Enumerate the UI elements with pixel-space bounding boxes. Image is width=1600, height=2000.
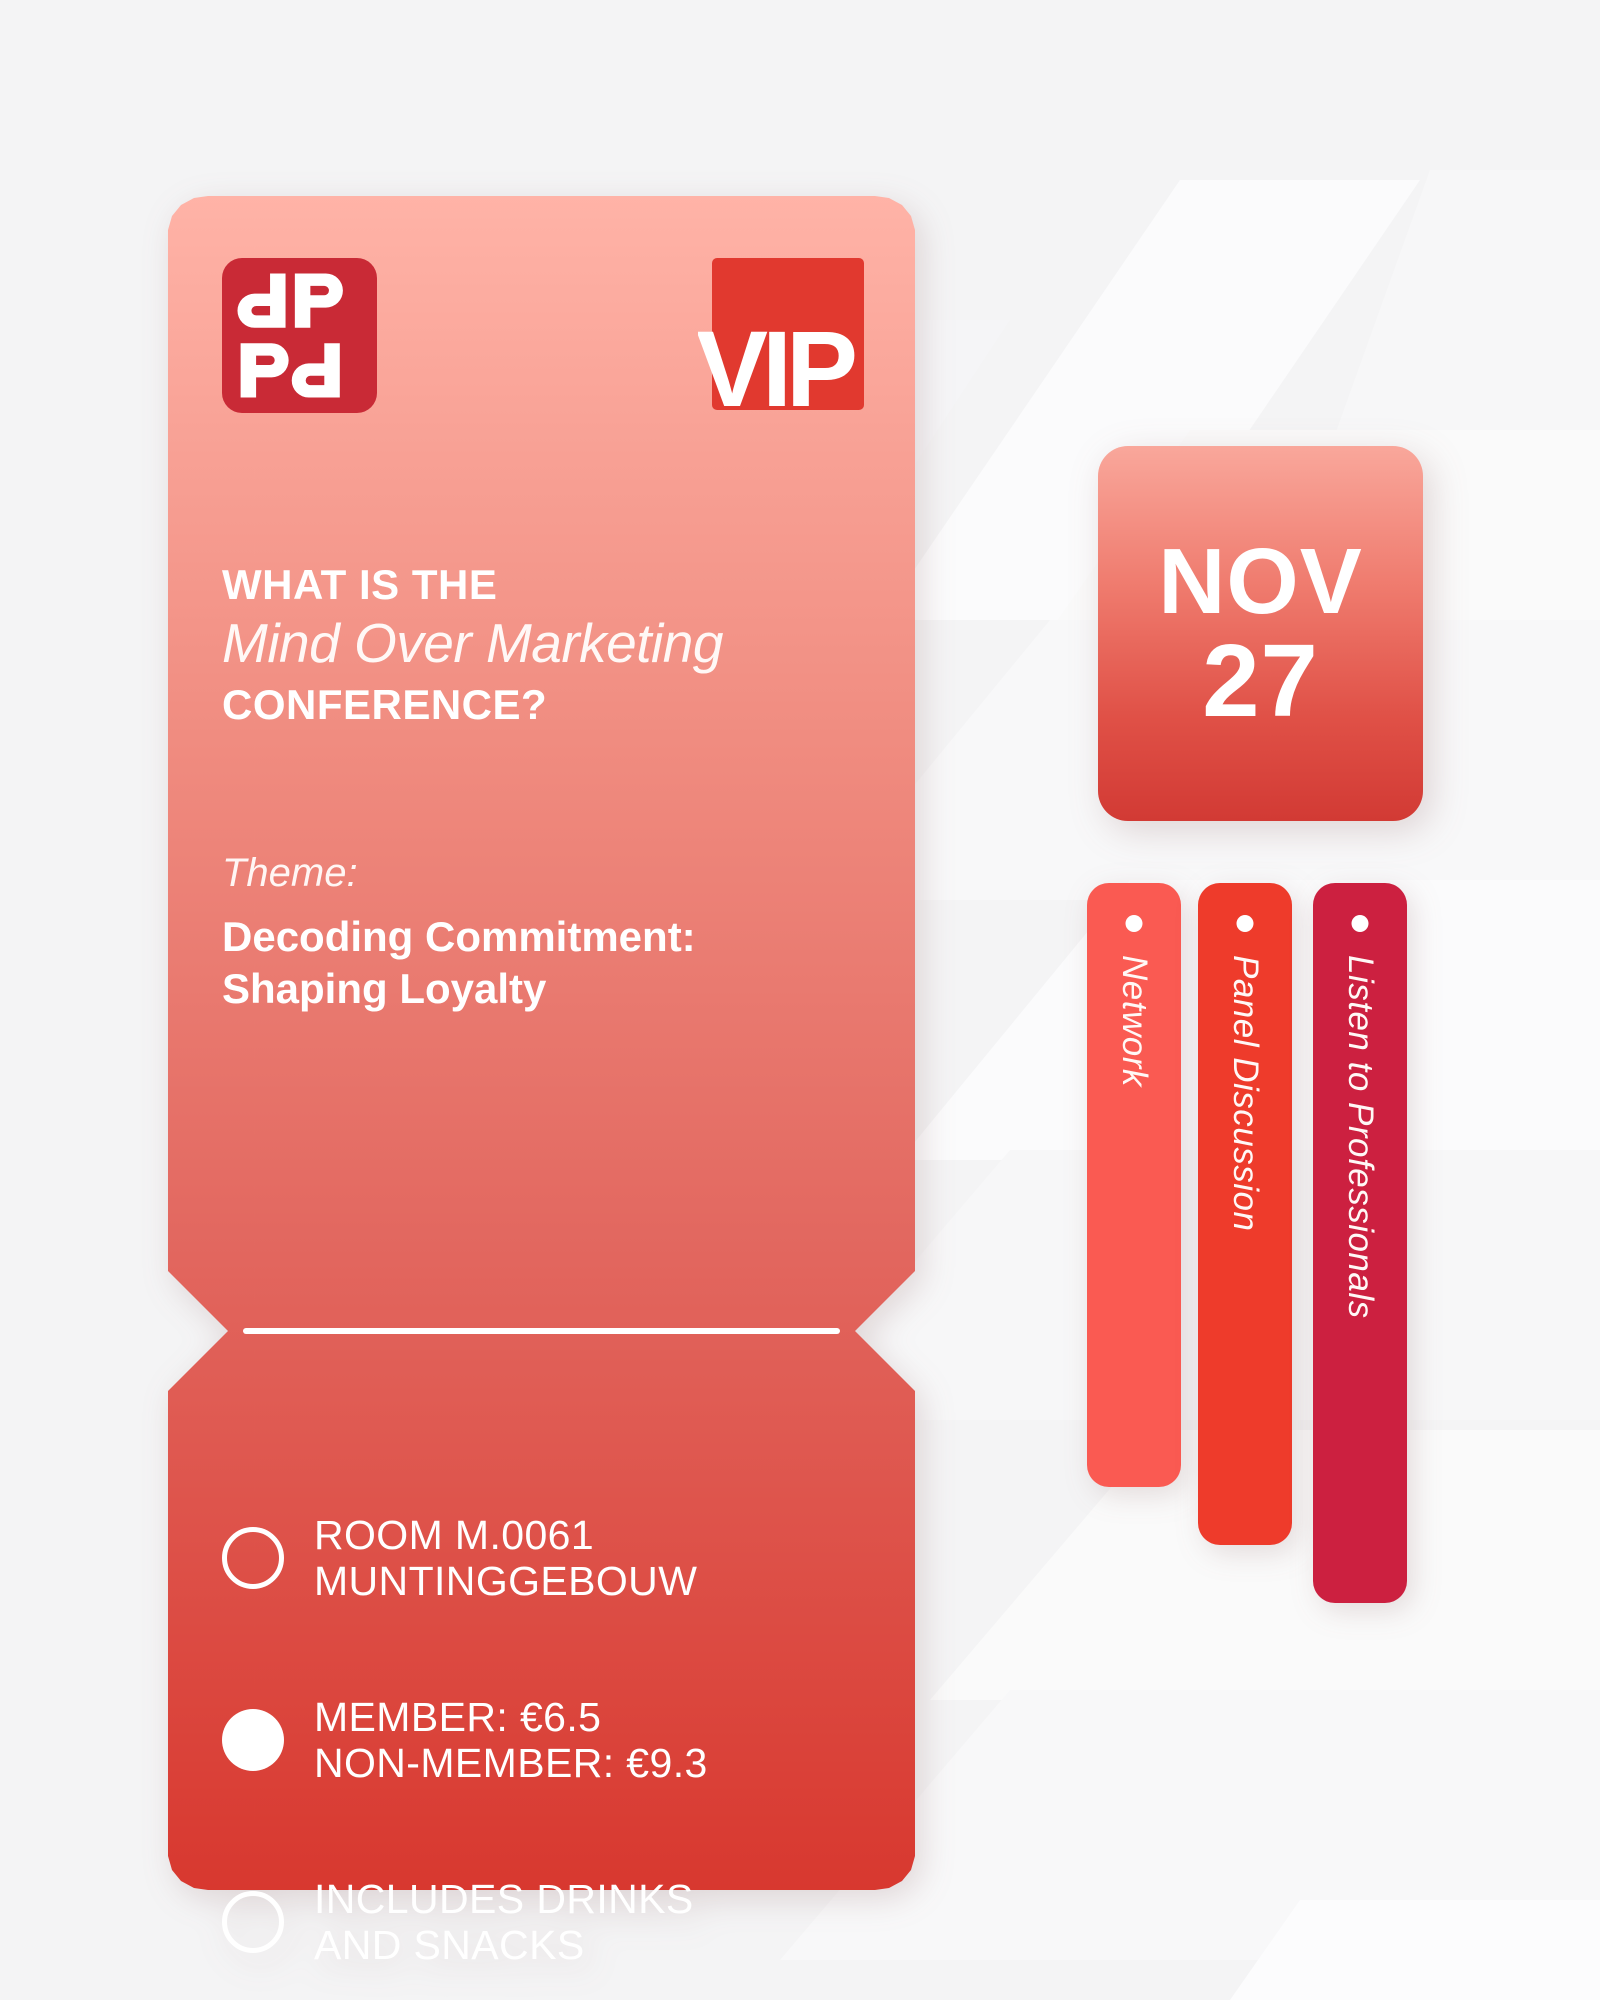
theme-label: Theme: [222,851,358,896]
theme-value-line-2: Shaping Loyalty [222,965,546,1013]
feature-pricing-line-2: NON-MEMBER: €9.3 [314,1740,708,1786]
feature-pricing-line-1: MEMBER: €6.5 [314,1694,708,1740]
feature-catering-line-1: INCLUDES DRINKS [314,1876,694,1922]
feature-item-location: ROOM M.0061 MUNTINGGEBOUW [222,1512,697,1605]
heading-line-3: CONFERENCE? [222,681,547,729]
activity-bar-listen-to-professionals[interactable]: Listen to Professionals [1313,883,1407,1603]
activity-bar-label: Listen to Professionals [1340,955,1380,1319]
activity-bar-label: Panel Discussion [1225,955,1265,1231]
activity-bar-network[interactable]: Network [1087,883,1181,1487]
ppd-four-p-logo [222,258,377,413]
feature-location-line-2: MUNTINGGEBOUW [314,1558,697,1604]
ticket-divider [243,1328,840,1334]
theme-value-line-1: Decoding Commitment: [222,913,696,961]
bullet-dot-icon [1126,915,1143,932]
activity-bars: Network Panel Discussion Listen to Profe… [1087,883,1417,1613]
date-day: 27 [1202,628,1319,733]
bullet-hollow-icon [222,1891,284,1953]
vip-badge-text: VIP [698,258,864,413]
bullet-hollow-icon [222,1527,284,1589]
date-month: NOV [1158,534,1363,629]
vip-badge: VIP [698,258,864,413]
activity-bar-panel-discussion[interactable]: Panel Discussion [1198,883,1292,1545]
feature-item-catering: INCLUDES DRINKS AND SNACKS [222,1876,694,1969]
feature-item-pricing: MEMBER: €6.5 NON-MEMBER: €9.3 [222,1694,708,1787]
ticket-logo-row: VIP [222,258,862,413]
bullet-solid-icon [222,1709,284,1771]
svg-text:VIP: VIP [698,308,855,413]
feature-catering-line-2: AND SNACKS [314,1922,694,1968]
bullet-dot-icon [1352,915,1369,932]
date-block: NOV 27 [1098,446,1423,821]
feature-location-line-1: ROOM M.0061 [314,1512,697,1558]
heading-line-1: WHAT IS THE [222,561,497,609]
ticket-card: VIP WHAT IS THE Mind Over Marketing CONF… [168,196,915,1890]
bullet-dot-icon [1237,915,1254,932]
activity-bar-label: Network [1114,955,1154,1087]
heading-line-2: Mind Over Marketing [222,611,723,675]
